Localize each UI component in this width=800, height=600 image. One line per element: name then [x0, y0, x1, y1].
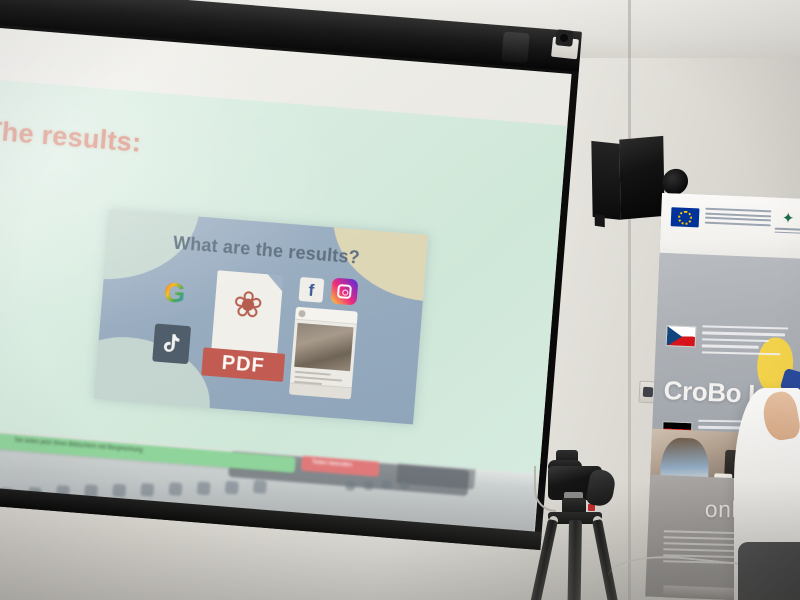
speaker-bracket — [595, 214, 605, 228]
google-icon-letter: G — [163, 279, 186, 308]
projected-slide: The results: What are the results? G — [0, 77, 567, 475]
banner-logo-strip: ✦ — [660, 193, 800, 259]
ceiling-camera — [555, 29, 574, 47]
pdf-label: PDF — [201, 347, 285, 381]
screen-surface: The results: What are the results? G — [0, 25, 572, 533]
speaker-side-panel — [591, 141, 620, 220]
pdf-file-icon: ❀ PDF — [210, 270, 284, 377]
post-photo — [294, 323, 353, 371]
stop-sharing-label: Teilen beenden — [311, 459, 352, 468]
facebook-icon: f — [299, 277, 325, 303]
co-funded-programme-logo: ✦ — [774, 211, 800, 238]
floor-shadow — [0, 480, 800, 600]
instagram-post-icon — [289, 307, 358, 400]
screen-roller-cap — [501, 31, 529, 63]
acrobat-glyph: ❀ — [214, 284, 283, 325]
tiktok-icon — [152, 323, 191, 364]
inner-slide-icon-row: G ❀ PDF — [95, 261, 424, 406]
eu-stars — [678, 210, 693, 225]
czech-flag — [666, 325, 697, 347]
google-icon: G — [153, 271, 196, 314]
post-footer — [289, 382, 352, 399]
post-header — [295, 307, 358, 325]
screen-frame: The results: What are the results? G — [0, 22, 579, 550]
speaker-front-panel — [619, 136, 664, 220]
presenter-hand — [760, 389, 800, 442]
tiktok-glyph — [161, 332, 183, 356]
instagram-glyph — [337, 284, 352, 299]
eu-programme-text — [705, 208, 772, 229]
european-union-flag — [671, 207, 700, 227]
partner-logo-mark: ✦ — [775, 211, 800, 227]
post-text-line — [295, 371, 331, 376]
inner-slide-image: What are the results? G — [94, 209, 428, 424]
czech-headline-text — [701, 325, 788, 359]
slide-title: The results: — [0, 115, 143, 158]
instagram-icon — [330, 278, 358, 306]
room-scene: The results: What are the results? G — [0, 0, 800, 600]
wall-mounted-speaker — [591, 137, 664, 220]
facebook-glyph: f — [308, 281, 315, 298]
